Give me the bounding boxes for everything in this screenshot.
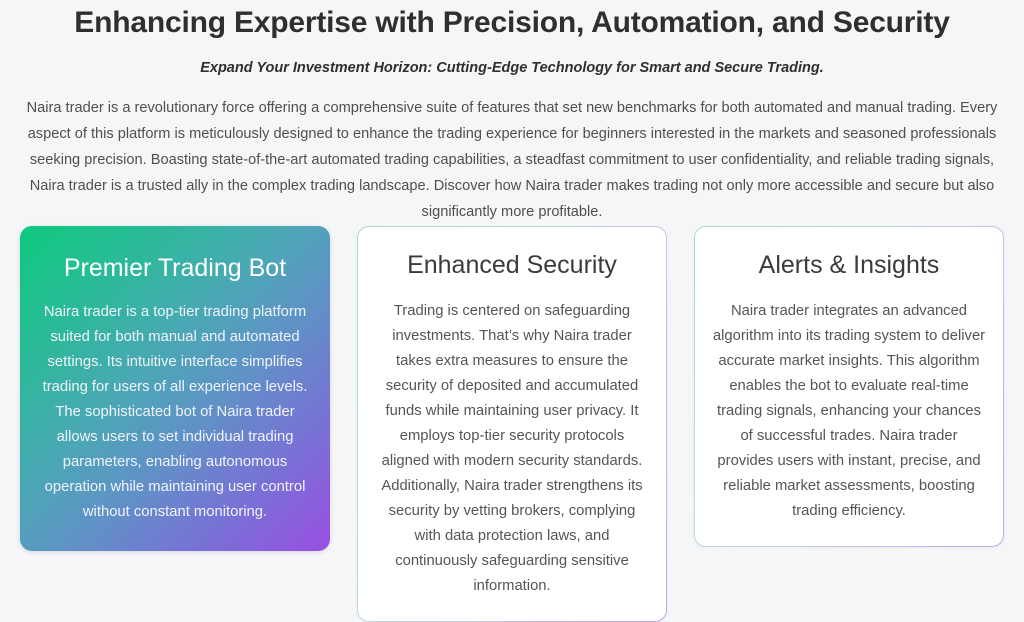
feature-card-premier-trading-bot[interactable]: Premier Trading Bot Naira trader is a to… <box>20 226 330 551</box>
card-body: Trading is centered on safeguarding inve… <box>374 281 650 599</box>
card-title: Premier Trading Bot <box>36 252 314 284</box>
page-subtitle: Expand Your Investment Horizon: Cutting-… <box>14 42 1010 78</box>
card-title: Enhanced Security <box>374 249 650 281</box>
feature-section-page: Enhancing Expertise with Precision, Auto… <box>0 0 1024 561</box>
card-title: Alerts & Insights <box>711 249 987 281</box>
feature-cards-row: Premier Trading Bot Naira trader is a to… <box>0 226 1024 622</box>
card-body: Naira trader integrates an advanced algo… <box>711 281 987 524</box>
card-body: Naira trader is a top-tier trading platf… <box>36 284 314 525</box>
intro-paragraph: Naira trader is a revolutionary force of… <box>22 78 1002 225</box>
page-header: Enhancing Expertise with Precision, Auto… <box>0 0 1024 225</box>
feature-card-enhanced-security[interactable]: Enhanced Security Trading is centered on… <box>357 226 667 622</box>
feature-card-alerts-and-insights[interactable]: Alerts & Insights Naira trader integrate… <box>694 226 1004 547</box>
page-title: Enhancing Expertise with Precision, Auto… <box>14 0 1010 42</box>
